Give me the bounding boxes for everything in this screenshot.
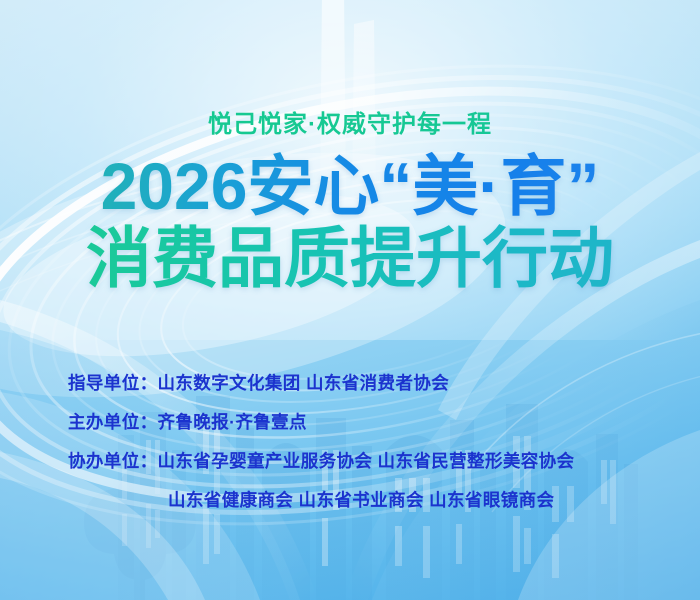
poster-title-line-1: 2026安心“美·育” (0, 150, 700, 222)
credit-row-organizer: 主办单位：齐鲁晚报·齐鲁壹点 (0, 403, 700, 442)
credit-value-coorganizer: 山东省孕婴童产业服务协会 山东省民营整形美容协会 (158, 451, 575, 471)
credit-value-coorganizer-continued: 山东省健康商会 山东省书业商会 山东省眼镜商会 (168, 490, 554, 510)
credits-block: 指导单位：山东数字文化集团 山东省消费者协会 主办单位：齐鲁晚报·齐鲁壹点 协办… (0, 364, 700, 520)
credit-label-coorganizer: 协办单位： (68, 451, 158, 471)
credit-label-guidance: 指导单位： (68, 373, 158, 393)
promo-poster: 悦己悦家·权威守护每一程 2026安心“美·育” 消费品质提升行动 指导单位：山… (0, 0, 700, 600)
poster-title-line-2: 消费品质提升行动 (0, 222, 700, 294)
credit-row-coorganizer: 协办单位：山东省孕婴童产业服务协会 山东省民营整形美容协会 (0, 442, 700, 481)
credit-value-organizer: 齐鲁晚报·齐鲁壹点 (158, 412, 307, 432)
credit-row-guidance: 指导单位：山东数字文化集团 山东省消费者协会 (0, 364, 700, 403)
credit-value-guidance: 山东数字文化集团 山东省消费者协会 (158, 373, 450, 393)
credit-row-coorganizer-continued: 山东省健康商会 山东省书业商会 山东省眼镜商会 (0, 481, 700, 520)
poster-subtitle: 悦己悦家·权威守护每一程 (0, 104, 700, 139)
poster-title: 2026安心“美·育” 消费品质提升行动 (0, 150, 700, 294)
credit-label-organizer: 主办单位： (68, 412, 158, 432)
